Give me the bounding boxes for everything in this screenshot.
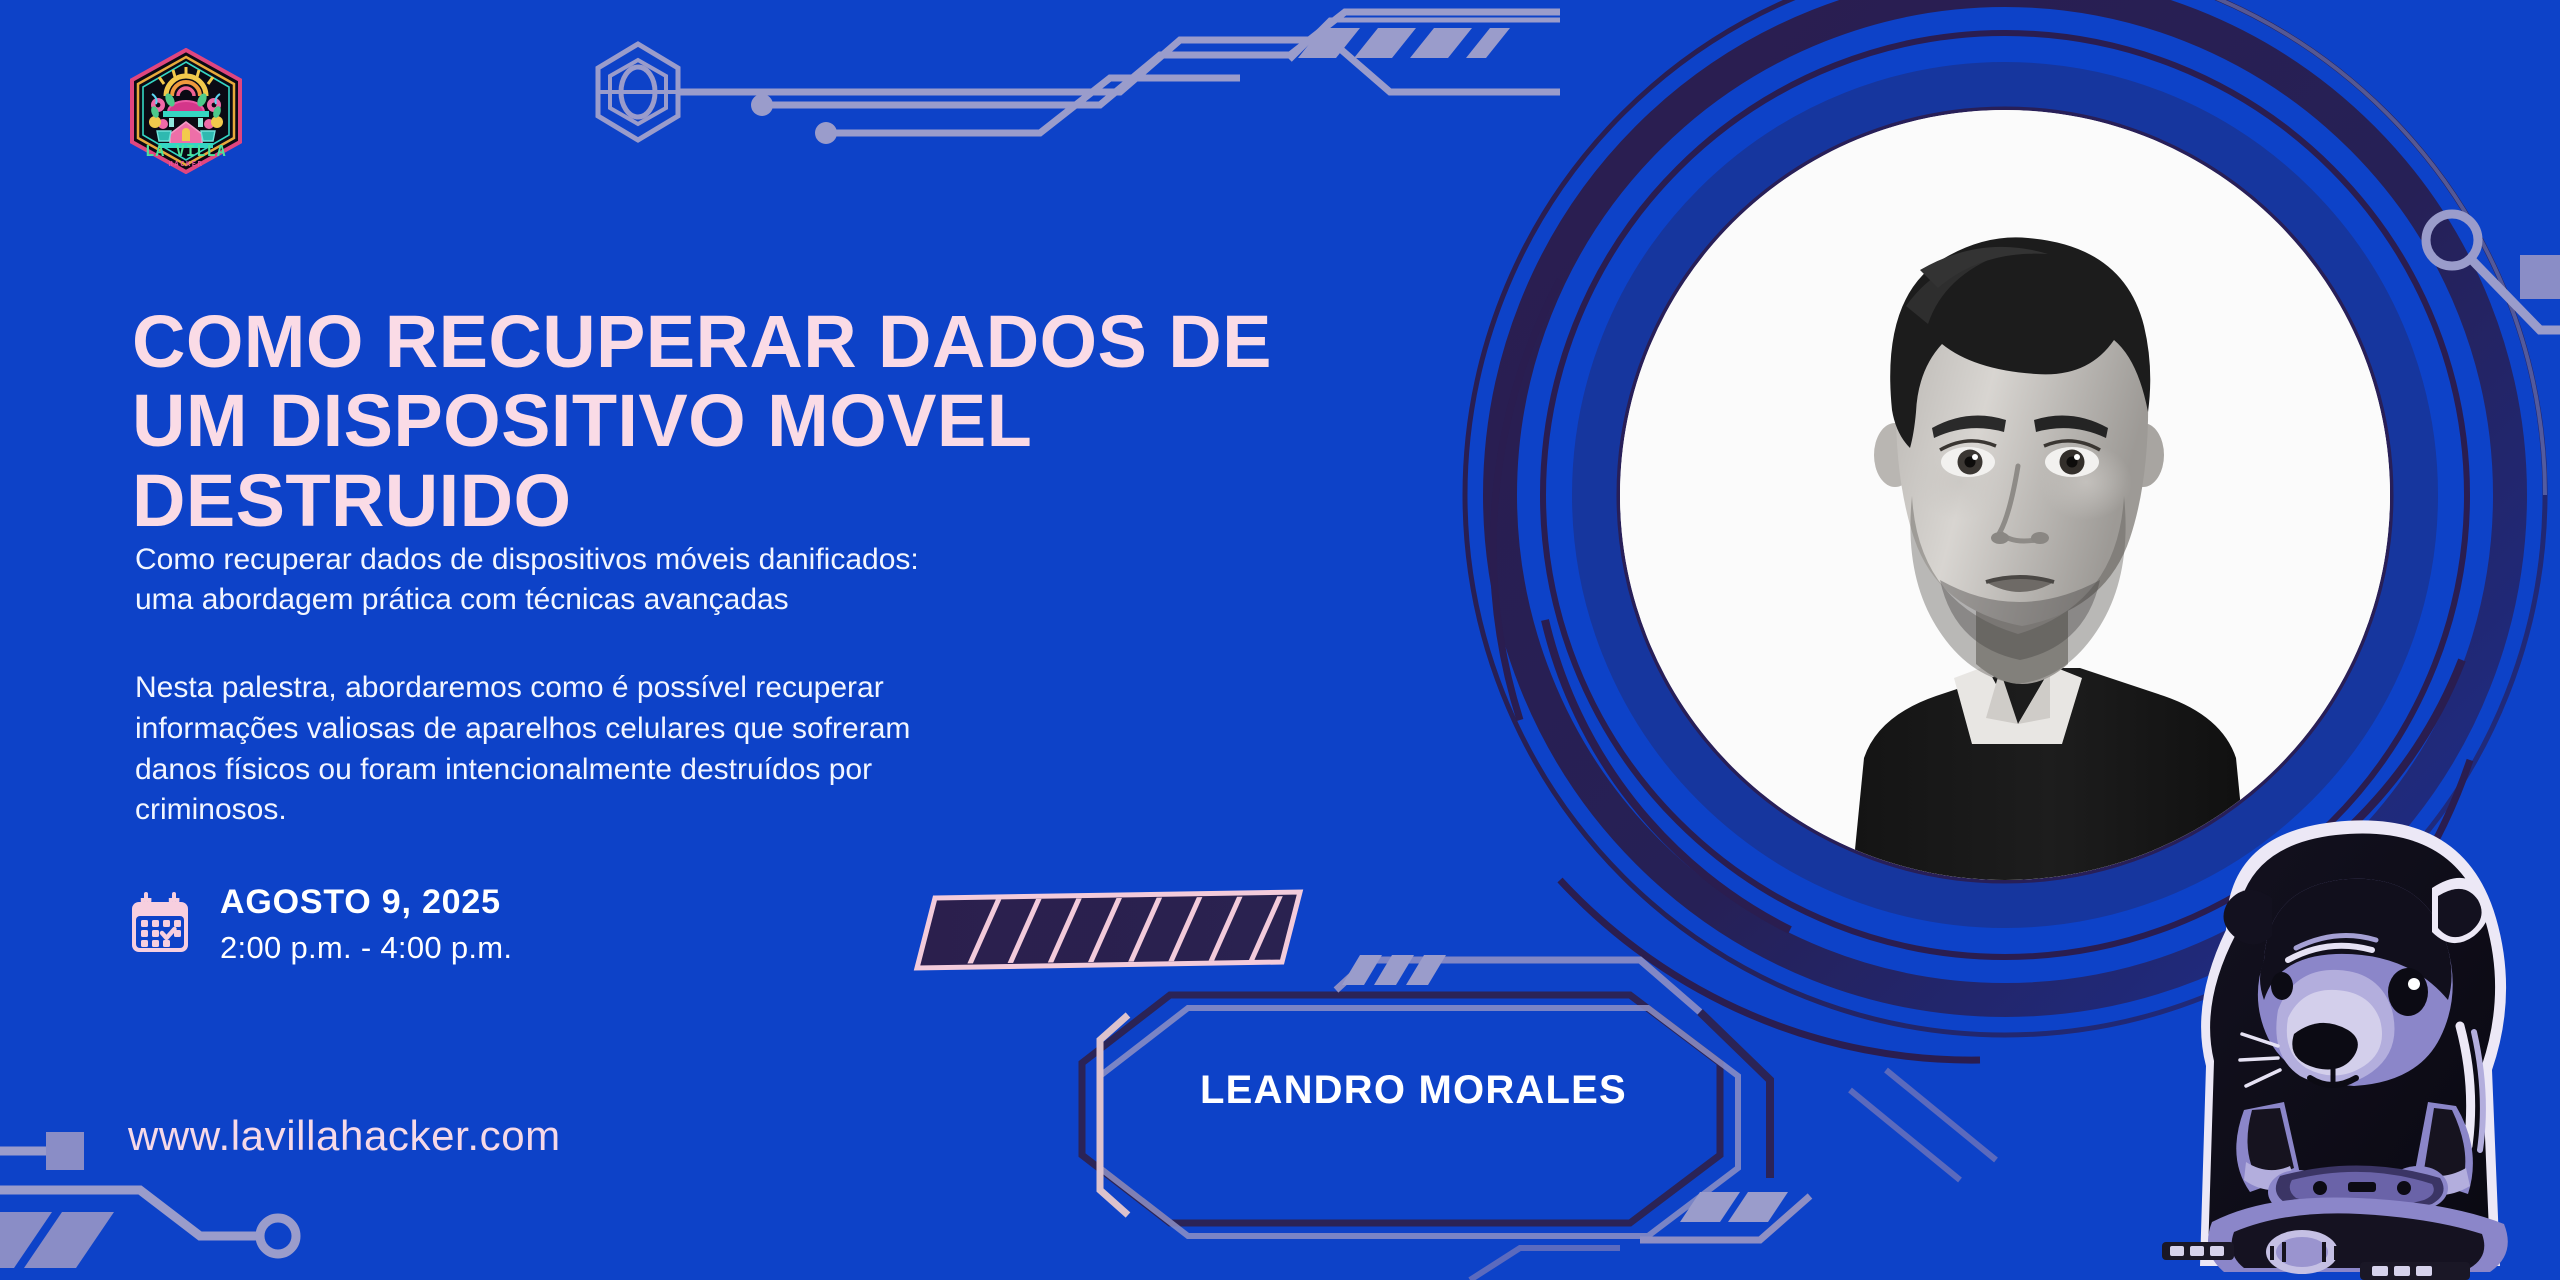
la-villa-hacker-badge[interactable]: LA VILLA HACKER (128, 48, 244, 174)
circuit-stripes-top (1298, 28, 1510, 58)
description-line-3: danos físicos ou foram intencionalmente … (135, 750, 1335, 791)
subtitle-line-2: uma abordagem prática com técnicas avanç… (135, 580, 1335, 620)
speaker-portrait (1620, 110, 2390, 880)
event-time: 2:00 p.m. - 4:00 p.m. (220, 929, 512, 966)
striped-bar (917, 885, 1325, 975)
headline-line-3: DESTRUIDO (132, 461, 1432, 541)
logo-line1: LA VILLA (145, 142, 227, 160)
calendar-icon (128, 892, 192, 956)
speaker-name: LEANDRO MORALES (1200, 1068, 1627, 1113)
event-datetime: AGOSTO 9, 2025 2:00 p.m. - 4:00 p.m. (128, 882, 512, 966)
event-banner: LA VILLA HACKER COMO RECUPERAR DADOS DE … (0, 0, 2560, 1280)
portrait-illustration (1620, 110, 2390, 880)
event-date: AGOSTO 9, 2025 (220, 882, 512, 923)
logo-line2: HACKER (169, 160, 204, 168)
subtitle-line-1: Como recuperar dados de dispositivos móv… (135, 540, 1335, 580)
capybara-mascot (2160, 810, 2560, 1280)
circuit-stripes-bottom-left (0, 1212, 114, 1268)
headline-line-2: UM DISPOSITIVO MOVEL (132, 381, 1432, 461)
circuit-trace-right (2426, 214, 2560, 330)
description: Nesta palestra, abordaremos como é possí… (135, 668, 1335, 831)
portrait-circle-mask (1620, 110, 2390, 880)
description-line-1: Nesta palestra, abordaremos como é possí… (135, 668, 1335, 709)
description-line-2: informações valiosas de aparelhos celula… (135, 709, 1335, 750)
circuit-trace-top (598, 12, 1560, 144)
page-title: COMO RECUPERAR DADOS DE UM DISPOSITIVO M… (132, 302, 1432, 542)
headline-line-1: COMO RECUPERAR DADOS DE (132, 302, 1432, 382)
subtitle: Como recuperar dados de dispositivos móv… (135, 540, 1335, 620)
circuit-outline-top (1290, 20, 1560, 60)
description-line-4: criminosos. (135, 790, 1335, 831)
website-url[interactable]: www.lavillahacker.com (128, 1112, 561, 1160)
